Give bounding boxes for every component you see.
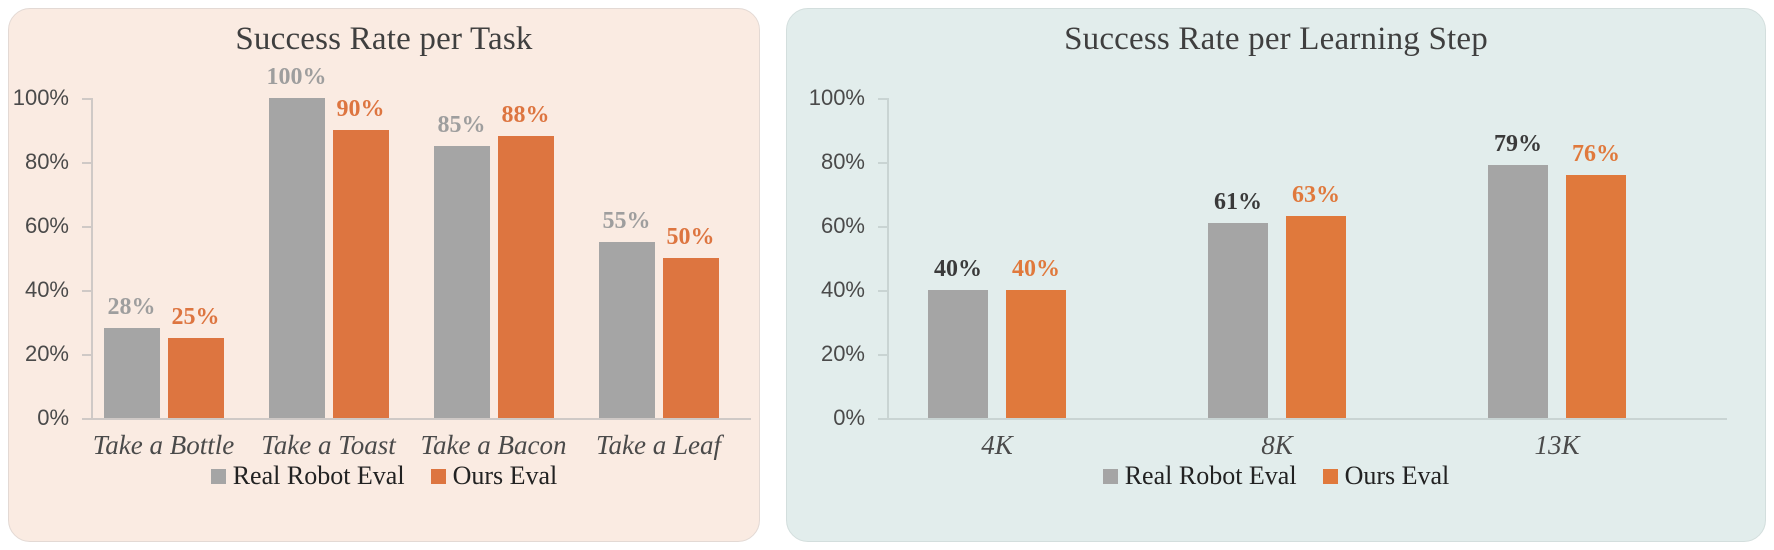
legend-left: Real Robot EvalOurs Eval	[9, 461, 759, 491]
bar-value-label: 85%	[438, 112, 486, 139]
y-axis-tick	[878, 290, 887, 292]
bar-real-robot-eval-13k[interactable]	[1488, 165, 1548, 418]
bar-value-label: 79%	[1494, 131, 1542, 158]
chart-title-right: Success Rate per Learning Step	[787, 21, 1765, 58]
bar-value-label: 100%	[267, 64, 327, 91]
y-axis-tick	[878, 354, 887, 356]
x-axis-category-label: Take a Toast	[261, 430, 396, 461]
y-axis-tick	[82, 162, 91, 164]
bar-ours-eval-13k[interactable]	[1566, 175, 1626, 418]
y-axis-tick-label: 40%	[821, 277, 865, 303]
y-axis-tick	[82, 290, 91, 292]
bar-value-label: 25%	[172, 304, 220, 331]
legend-item-ours-eval[interactable]: Ours Eval	[431, 461, 558, 491]
bar-value-label: 61%	[1214, 189, 1262, 216]
plot-area-left: 0%20%40%60%80%100%28%25%Take a Bottle100…	[91, 98, 751, 418]
x-axis-category-label: 4K	[981, 430, 1013, 461]
legend-label: Ours Eval	[1345, 461, 1450, 491]
bar-value-label: 76%	[1572, 141, 1620, 168]
y-axis-tick-label: 60%	[25, 213, 69, 239]
plot-area-right: 0%20%40%60%80%100%40%40%4K61%63%8K79%76%…	[887, 98, 1727, 418]
y-axis-tick-label: 20%	[821, 341, 865, 367]
chart-title-left: Success Rate per Task	[9, 21, 759, 58]
legend-right: Real Robot EvalOurs Eval	[787, 461, 1765, 491]
y-axis-tick-label: 20%	[25, 341, 69, 367]
bar-value-label: 28%	[108, 294, 156, 321]
y-axis-tick-label: 100%	[13, 85, 69, 111]
legend-label: Real Robot Eval	[1125, 461, 1297, 491]
y-axis-tick	[878, 162, 887, 164]
legend-swatch-icon	[211, 469, 226, 484]
bar-ours-eval-take-a-bacon[interactable]	[498, 136, 554, 418]
legend-swatch-icon	[1103, 469, 1118, 484]
y-axis-tick-label: 60%	[821, 213, 865, 239]
bar-value-label: 63%	[1292, 182, 1340, 209]
bar-real-robot-eval-take-a-bottle[interactable]	[104, 328, 160, 418]
bar-ours-eval-take-a-leaf[interactable]	[663, 258, 719, 418]
bar-real-robot-eval-take-a-toast[interactable]	[269, 98, 325, 418]
bar-ours-eval-8k[interactable]	[1286, 216, 1346, 418]
bar-real-robot-eval-8k[interactable]	[1208, 223, 1268, 418]
legend-item-ours-eval[interactable]: Ours Eval	[1323, 461, 1450, 491]
chart-panel-success-rate-per-learning-step: Success Rate per Learning Step 0%20%40%6…	[786, 8, 1766, 542]
x-axis-category-label: Take a Leaf	[596, 430, 721, 461]
x-axis-baseline	[887, 418, 1727, 420]
bar-real-robot-eval-take-a-bacon[interactable]	[434, 146, 490, 418]
x-axis-category-label: 13K	[1534, 430, 1579, 461]
y-axis-tick-label: 100%	[809, 85, 865, 111]
bar-value-label: 40%	[934, 256, 982, 283]
y-axis-tick	[82, 98, 91, 100]
bar-value-label: 40%	[1012, 256, 1060, 283]
y-axis-tick	[878, 98, 887, 100]
legend-label: Ours Eval	[453, 461, 558, 491]
y-axis-tick-label: 40%	[25, 277, 69, 303]
y-axis-tick	[82, 354, 91, 356]
y-axis-tick-label: 0%	[833, 405, 865, 431]
y-axis-tick-label: 80%	[821, 149, 865, 175]
bar-value-label: 90%	[337, 96, 385, 123]
legend-item-real-robot-eval[interactable]: Real Robot Eval	[1103, 461, 1297, 491]
bar-value-label: 88%	[502, 102, 550, 129]
y-axis-line	[887, 98, 889, 418]
y-axis-tick-label: 80%	[25, 149, 69, 175]
bar-value-label: 55%	[603, 208, 651, 235]
x-axis-category-label: Take a Bottle	[93, 430, 235, 461]
x-axis-baseline	[91, 418, 751, 420]
legend-swatch-icon	[431, 469, 446, 484]
bar-real-robot-eval-take-a-leaf[interactable]	[599, 242, 655, 418]
chart-panel-success-rate-per-task: Success Rate per Task 0%20%40%60%80%100%…	[8, 8, 760, 542]
figure-root: Success Rate per Task 0%20%40%60%80%100%…	[0, 0, 1774, 550]
bar-ours-eval-take-a-toast[interactable]	[333, 130, 389, 418]
y-axis-tick	[82, 226, 91, 228]
x-axis-category-label: Take a Bacon	[421, 430, 567, 461]
bar-real-robot-eval-4k[interactable]	[928, 290, 988, 418]
y-axis-tick	[878, 226, 887, 228]
x-axis-category-label: 8K	[1261, 430, 1293, 461]
bar-ours-eval-4k[interactable]	[1006, 290, 1066, 418]
bar-value-label: 50%	[667, 224, 715, 251]
y-axis-tick-label: 0%	[37, 405, 69, 431]
bar-ours-eval-take-a-bottle[interactable]	[168, 338, 224, 418]
legend-swatch-icon	[1323, 469, 1338, 484]
y-axis-line	[91, 98, 93, 418]
y-axis-tick	[82, 418, 91, 420]
y-axis-tick	[878, 418, 887, 420]
legend-item-real-robot-eval[interactable]: Real Robot Eval	[211, 461, 405, 491]
legend-label: Real Robot Eval	[233, 461, 405, 491]
